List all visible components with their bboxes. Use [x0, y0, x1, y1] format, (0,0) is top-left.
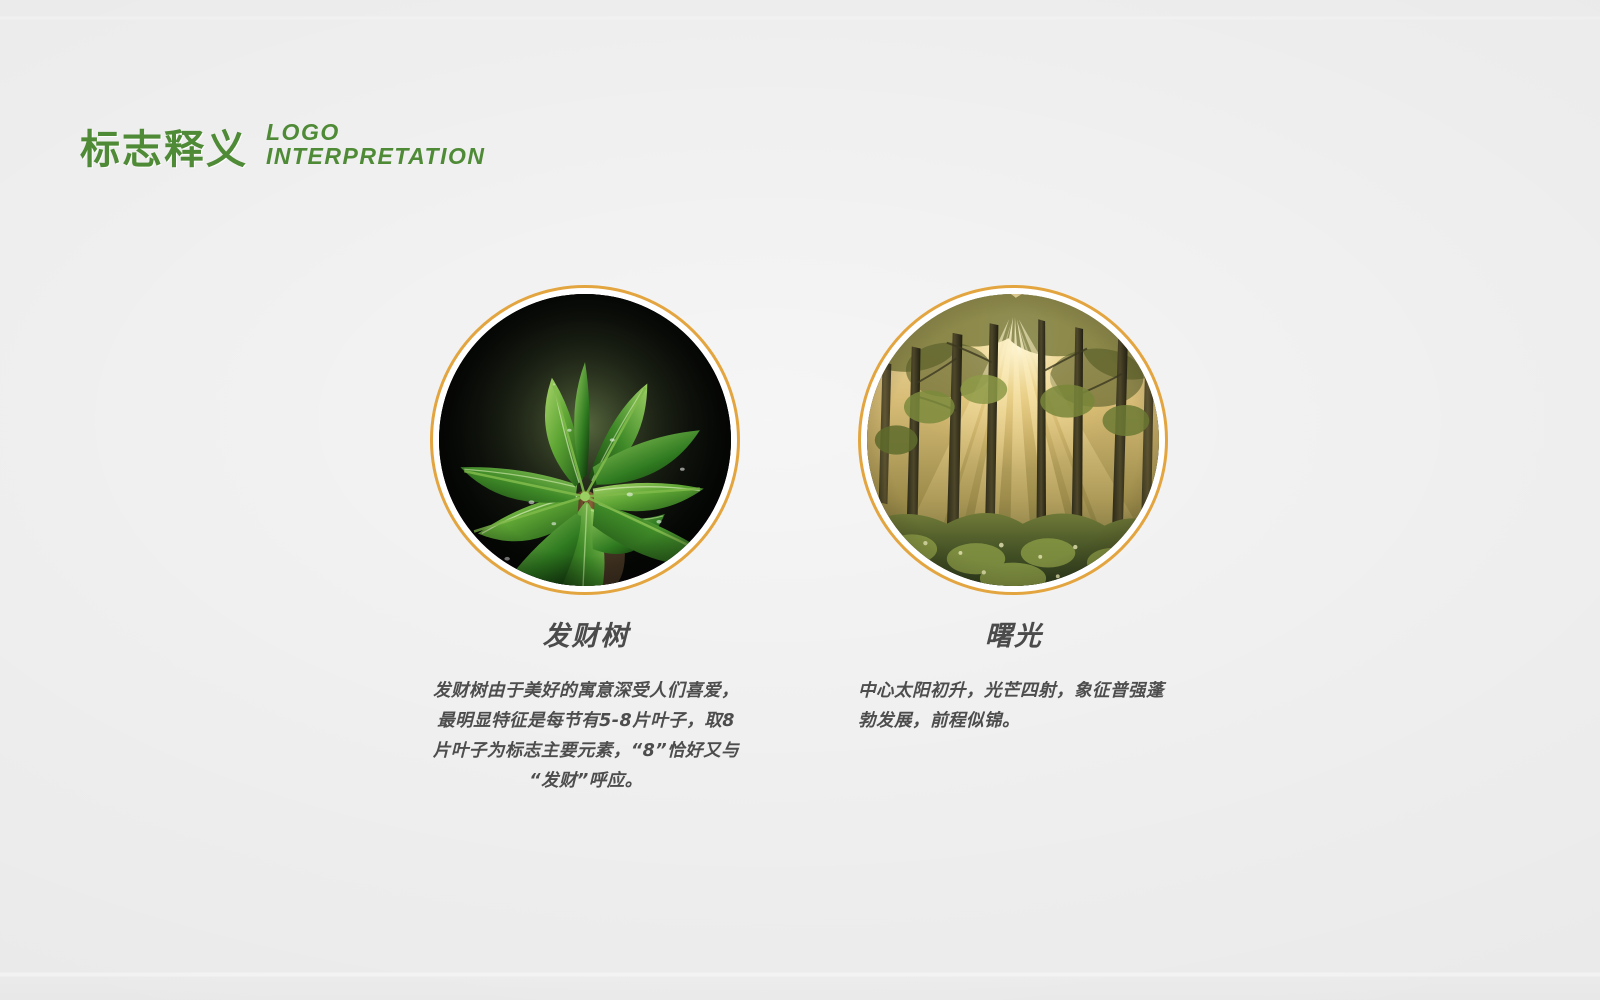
- page-title-cn: 标志释义: [80, 130, 248, 170]
- page-title-en: LOGO INTERPRETATION: [266, 120, 485, 168]
- caption-body-money-tree: 发财树由于美好的寓意深受人们喜爱，最明显特征是每节有5-8片叶子，取8片叶子为标…: [430, 676, 742, 796]
- page-title-en-line1: LOGO: [266, 120, 485, 144]
- money-tree-photo: [439, 294, 731, 586]
- slide-canvas: 标志释义 LOGO INTERPRETATION: [0, 0, 1600, 1000]
- page-title-block: 标志释义 LOGO INTERPRETATION: [80, 122, 485, 170]
- money-tree-photo-ring: [430, 285, 740, 595]
- money-tree-illustration: [439, 294, 731, 586]
- interpretation-item-dawn-light: 曙光 中心太阳初升，光芒四射，象征普强蓬勃发展，前程似锦。: [858, 285, 1170, 736]
- page-title-en-line2: INTERPRETATION: [266, 144, 485, 168]
- dawn-forest-photo-ring: [858, 285, 1168, 595]
- interpretation-item-money-tree: 发财树 发财树由于美好的寓意深受人们喜爱，最明显特征是每节有5-8片叶子，取8片…: [430, 285, 742, 796]
- caption-body-dawn-light: 中心太阳初升，光芒四射，象征普强蓬勃发展，前程似锦。: [858, 676, 1170, 736]
- caption-title-dawn-light: 曙光: [858, 614, 1170, 653]
- dawn-forest-photo: [867, 294, 1159, 586]
- caption-title-money-tree: 发财树: [430, 614, 742, 653]
- dawn-forest-illustration: [867, 294, 1159, 586]
